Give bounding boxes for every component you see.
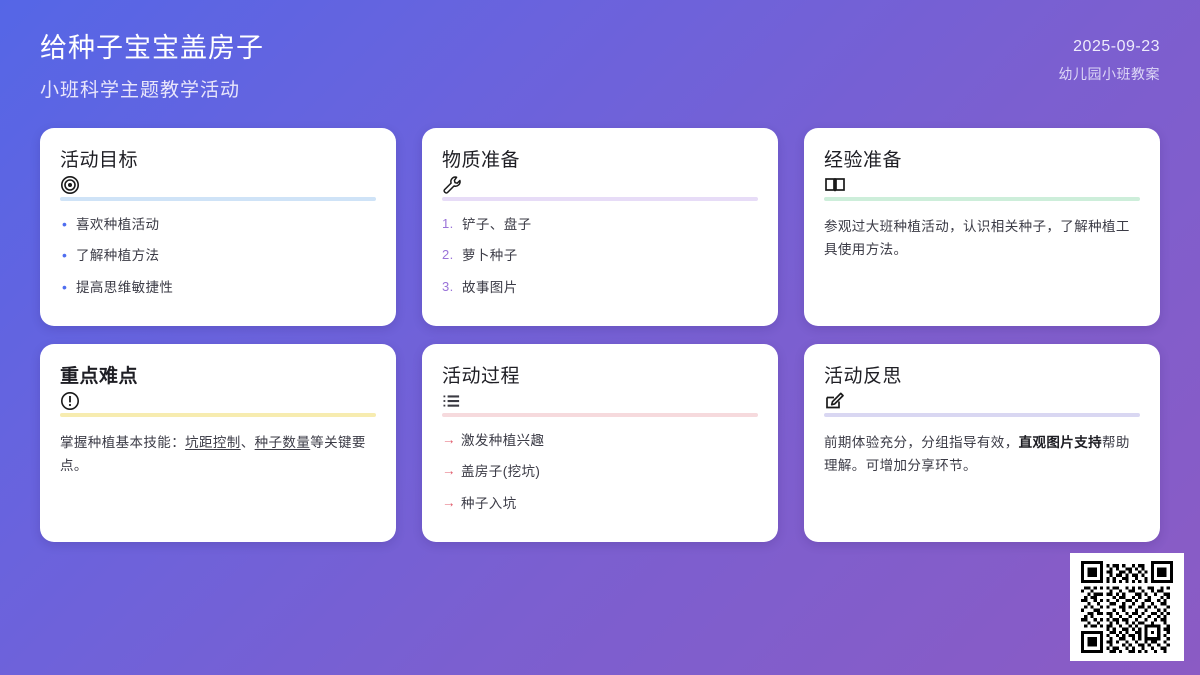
experience-text: 参观过大班种植活动，认识相关种子，了解种植工具使用方法。 xyxy=(824,215,1140,262)
card-rule xyxy=(824,197,1140,201)
underlined-term-1: 坑距控制 xyxy=(185,435,241,450)
list-item: 铲子、盘子 xyxy=(442,215,758,235)
list-item: 萝卜种子 xyxy=(442,246,758,266)
list-item: 盖房子(挖坑) xyxy=(442,462,758,482)
card-title: 物质准备 xyxy=(442,150,758,172)
page-subtitle: 小班科学主题教学活动 xyxy=(40,75,264,102)
exclamation-icon xyxy=(60,391,376,411)
page-header: 给种子宝宝盖房子 小班科学主题教学活动 2025-09-23 幼儿园小班教案 xyxy=(0,0,1200,118)
card-activity-reflection: 活动反思 前期体验充分，分组指导有效，直观图片支持帮助理解。可增加分享环节。 xyxy=(804,344,1160,542)
text-prefix: 掌握种植基本技能： xyxy=(60,435,185,450)
page-title: 给种子宝宝盖房子 xyxy=(40,32,264,66)
process-list: 激发种植兴趣 盖房子(挖坑) 种子入坑 xyxy=(442,431,758,514)
wrench-icon xyxy=(442,175,758,195)
card-grid: 活动目标 喜欢种植活动 了解种植方法 提高思维敏捷性 物质准备 xyxy=(40,128,1160,542)
card-header: 经验准备 xyxy=(824,150,1140,195)
card-experience-preparation: 经验准备 参观过大班种植活动，认识相关种子，了解种植工具使用方法。 xyxy=(804,128,1160,326)
card-header: 活动过程 xyxy=(442,366,758,411)
card-activity-process: 活动过程 激发种植兴趣 盖房子(挖坑) 种子入坑 xyxy=(422,344,778,542)
card-title: 活动反思 xyxy=(824,366,1140,388)
list-item: 激发种植兴趣 xyxy=(442,431,758,451)
card-title: 经验准备 xyxy=(824,150,1140,172)
card-rule xyxy=(442,197,758,201)
goal-list: 喜欢种植活动 了解种植方法 提高思维敏捷性 xyxy=(60,215,376,298)
card-header: 活动反思 xyxy=(824,366,1140,411)
list-item: 提高思维敏捷性 xyxy=(60,278,376,298)
book-icon xyxy=(824,175,1140,195)
card-title: 活动过程 xyxy=(442,366,758,388)
document-date: 2025-09-23 xyxy=(1059,38,1161,56)
bold-term: 直观图片支持 xyxy=(1019,435,1102,450)
list-icon xyxy=(442,391,758,411)
list-item: 故事图片 xyxy=(442,278,758,298)
list-item: 喜欢种植活动 xyxy=(60,215,376,235)
header-left-block: 给种子宝宝盖房子 小班科学主题教学活动 xyxy=(40,32,264,102)
card-key-difficulties: 重点难点 掌握种植基本技能：坑距控制、种子数量等关键要点。 xyxy=(40,344,396,542)
card-activity-goals: 活动目标 喜欢种植活动 了解种植方法 提高思维敏捷性 xyxy=(40,128,396,326)
reflection-text: 前期体验充分，分组指导有效，直观图片支持帮助理解。可增加分享环节。 xyxy=(824,431,1140,478)
list-item: 种子入坑 xyxy=(442,494,758,514)
card-header: 物质准备 xyxy=(442,150,758,195)
card-rule xyxy=(60,197,376,201)
card-header: 重点难点 xyxy=(60,366,376,411)
card-rule xyxy=(442,413,758,417)
qr-code[interactable] xyxy=(1070,553,1184,661)
text-prefix: 前期体验充分，分组指导有效， xyxy=(824,435,1019,450)
card-header: 活动目标 xyxy=(60,150,376,195)
edit-icon xyxy=(824,391,1140,411)
card-rule xyxy=(60,413,376,417)
key-difficulty-text: 掌握种植基本技能：坑距控制、种子数量等关键要点。 xyxy=(60,431,376,478)
card-material-preparation: 物质准备 铲子、盘子 萝卜种子 故事图片 xyxy=(422,128,778,326)
text-middle: 、 xyxy=(241,435,255,450)
card-title: 重点难点 xyxy=(60,366,376,388)
document-category: 幼儿园小班教案 xyxy=(1059,64,1161,84)
header-right-block: 2025-09-23 幼儿园小班教案 xyxy=(1059,38,1161,84)
card-title: 活动目标 xyxy=(60,150,376,172)
target-icon xyxy=(60,175,376,195)
underlined-term-2: 种子数量 xyxy=(255,435,311,450)
list-item: 了解种植方法 xyxy=(60,246,376,266)
material-list: 铲子、盘子 萝卜种子 故事图片 xyxy=(442,215,758,298)
card-rule xyxy=(824,413,1140,417)
